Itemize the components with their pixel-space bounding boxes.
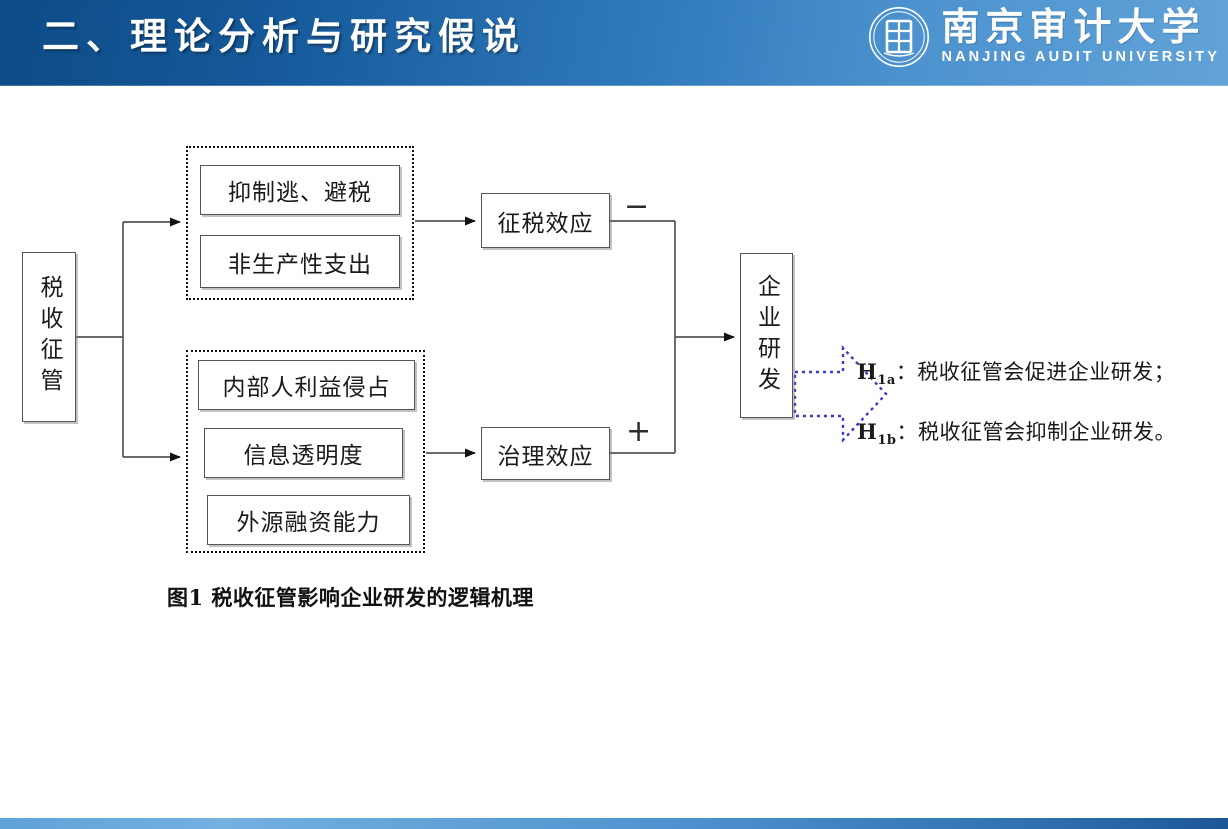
node-governance-effect: 治理效应 xyxy=(481,427,610,480)
node-curb-evasion-avoidance: 抑制逃、避税 xyxy=(200,165,400,215)
node-information-transparency: 信息透明度 xyxy=(204,428,403,478)
node-corporate-rd: 企业研发 xyxy=(740,253,793,418)
slide-header: 二、理论分析与研究假说 南京审计大学 NANJING AUDIT UNIVERS… xyxy=(0,0,1228,86)
page-title: 二、理论分析与研究假说 xyxy=(42,6,526,60)
node-tax-administration: 税收征管 xyxy=(22,252,76,422)
hypothesis-label-1a: H xyxy=(857,359,877,384)
university-logo: 南京审计大学 NANJING AUDIT UNIVERSITY xyxy=(868,2,1221,72)
figure-caption: 图1 税收征管影响企业研发的逻辑机理 xyxy=(167,582,534,612)
university-name-en: NANJING AUDIT UNIVERSITY xyxy=(942,49,1221,65)
slide-footer-bar xyxy=(0,818,1228,829)
hypothesis-colon-1a: ： xyxy=(896,360,918,384)
hypothesis-sub-1a: 1a xyxy=(877,373,895,388)
node-taxation-effect: 征税效应 xyxy=(481,193,610,248)
hypothesis-list: H1a：税收征管会促进企业研发； H1b：税收征管会抑制企业研发。 xyxy=(857,356,1227,476)
university-name-cn: 南京审计大学 xyxy=(942,9,1206,45)
logic-mechanism-diagram: 税收征管 抑制逃、避税 非生产性支出 内部人利益侵占 信息透明度 外源融资能力 … xyxy=(0,86,1228,818)
node-external-financing-capacity: 外源融资能力 xyxy=(207,495,410,545)
hypothesis-colon-1b: ： xyxy=(896,420,918,444)
hypothesis-label-1b: H xyxy=(857,419,877,444)
node-insider-expropriation: 内部人利益侵占 xyxy=(198,360,415,410)
hypothesis-item-1b: H1b：税收征管会抑制企业研发。 xyxy=(857,416,1227,448)
sign-positive: + xyxy=(626,417,651,447)
hypothesis-sub-1b: 1b xyxy=(877,433,896,448)
node-nonproductive-expenditure: 非生产性支出 xyxy=(200,235,400,288)
sign-negative: − xyxy=(624,192,649,222)
hypothesis-text-1b: 税收征管会抑制企业研发。 xyxy=(918,420,1176,444)
hypothesis-text-1a: 税收征管会促进企业研发； xyxy=(917,360,1175,384)
university-emblem-icon xyxy=(868,6,930,68)
hypothesis-item-1a: H1a：税收征管会促进企业研发； xyxy=(857,356,1227,388)
